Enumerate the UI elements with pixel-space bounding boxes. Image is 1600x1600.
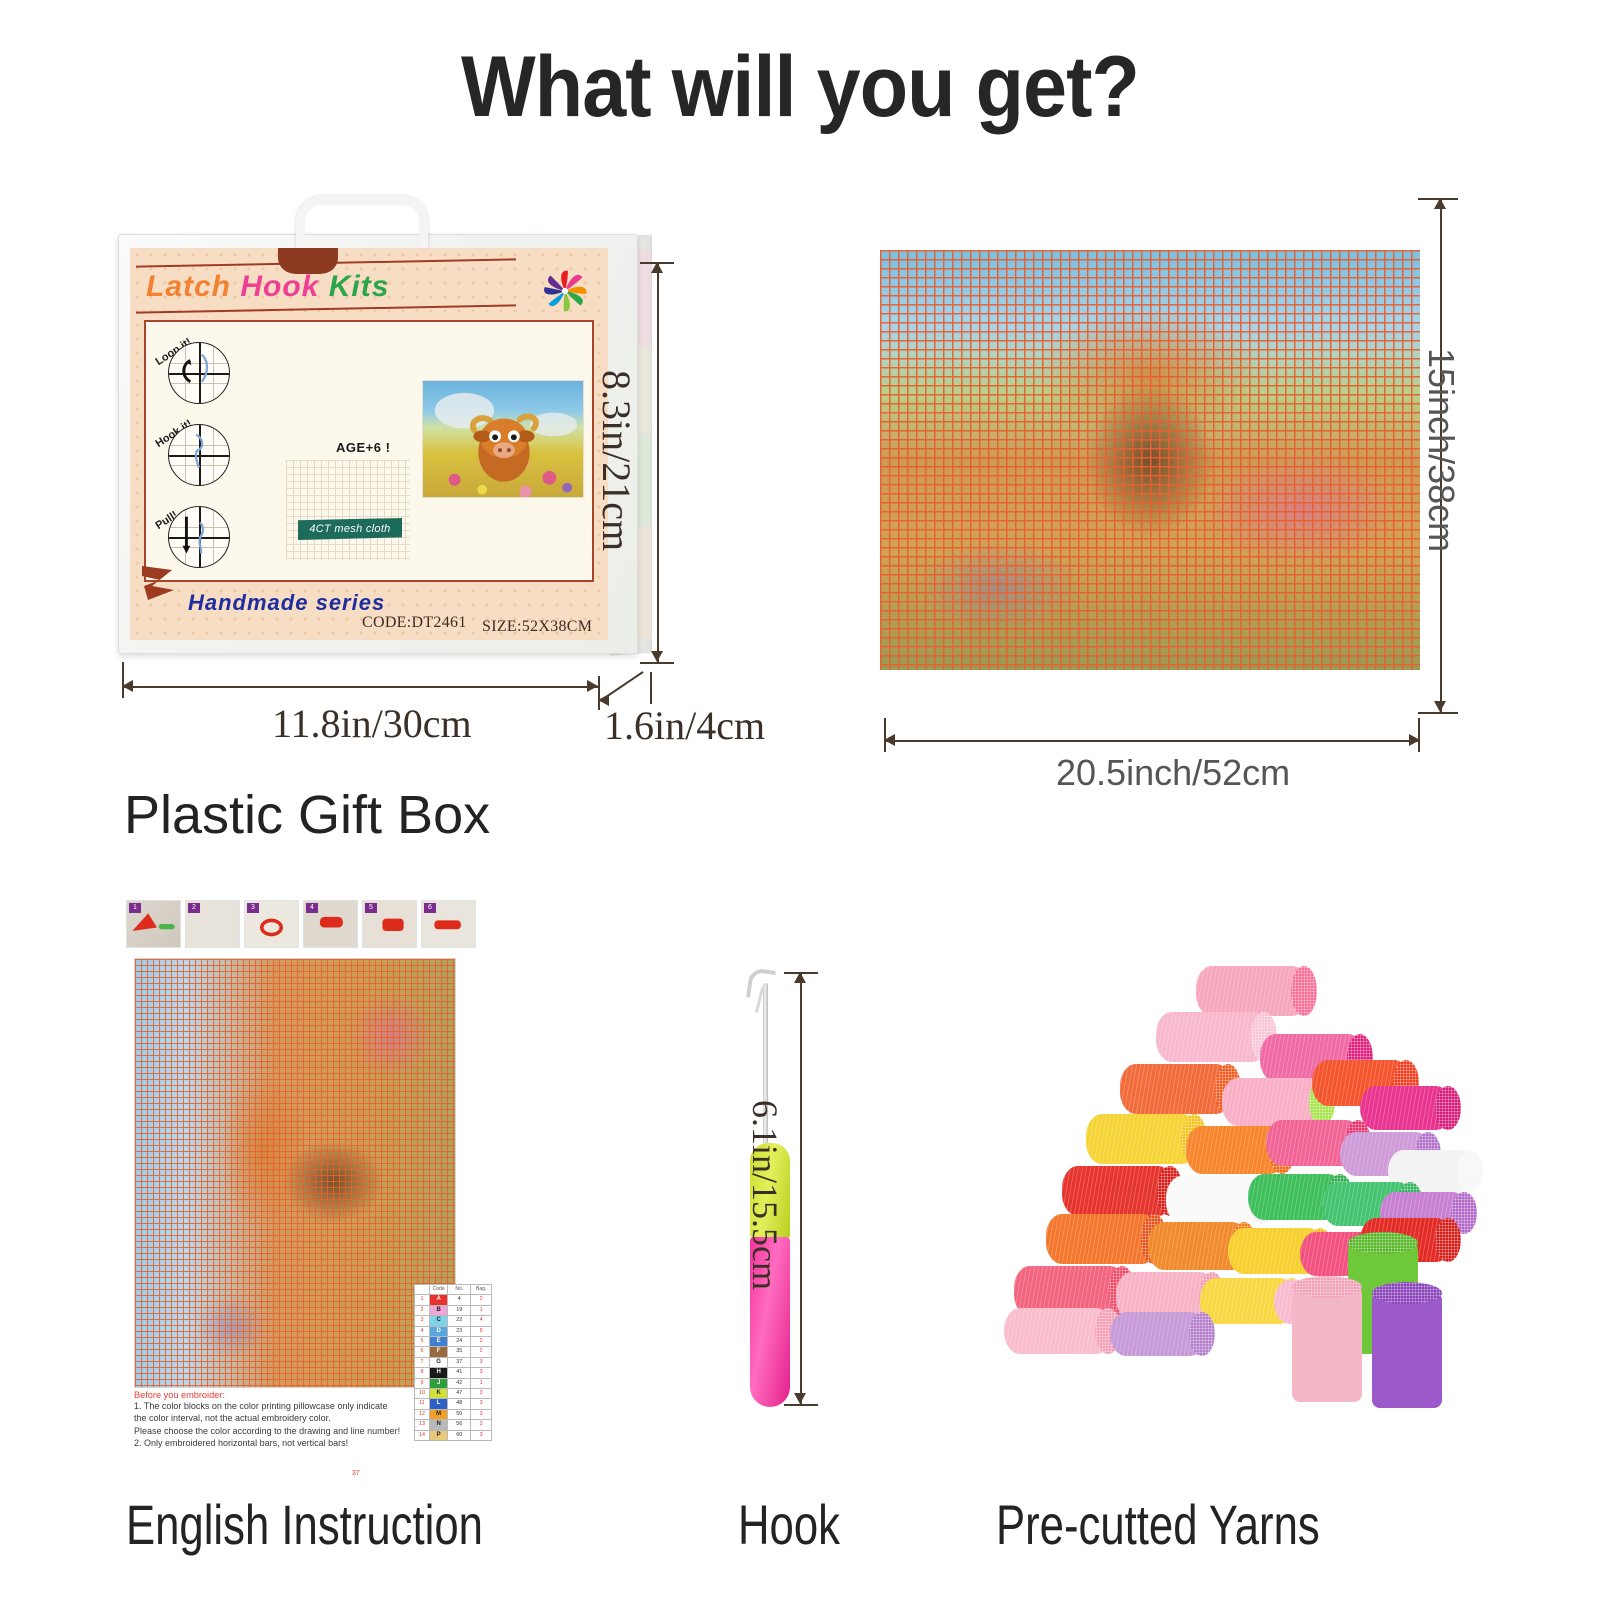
yarn-bundle-standing xyxy=(1372,1292,1442,1408)
thumbnail-number: 2 xyxy=(188,903,200,913)
legend-cell-bag: 2 xyxy=(471,1337,492,1347)
legend-header-code: Code xyxy=(429,1285,447,1295)
before-you-embroider-line: 2. Only embroidered horizontal bars, not… xyxy=(134,1437,434,1449)
legend-cell-color-code: C xyxy=(429,1316,447,1326)
box-carry-handle xyxy=(296,196,428,248)
legend-row: 3C224 xyxy=(415,1316,492,1326)
legend-cell-bag: 3 xyxy=(471,1389,492,1399)
legend-cell-bag: 3 xyxy=(471,1409,492,1419)
legend-cell-index: 4 xyxy=(415,1326,430,1336)
legend-cell-index: 1 xyxy=(415,1295,430,1305)
before-you-embroider-block: Before you embroider: 1. The color block… xyxy=(134,1390,434,1450)
legend-cell-number: 24 xyxy=(448,1337,471,1347)
legend-cell-color-code: H xyxy=(429,1368,447,1378)
brand-title: Latch Hook Kits xyxy=(146,270,389,304)
yarn-bundle xyxy=(1062,1166,1174,1216)
legend-cell-bag: 1 xyxy=(471,1378,492,1388)
legend-cell-number: 50 xyxy=(448,1409,471,1419)
legend-cell-color-code: J xyxy=(429,1378,447,1388)
legend-cell-number: 4 xyxy=(448,1295,471,1305)
legend-cell-color-code: G xyxy=(429,1357,447,1367)
legend-cell-bag: 3 xyxy=(471,1368,492,1378)
legend-row: 5E242 xyxy=(415,1337,492,1347)
page-title: What will you get? xyxy=(64,38,1536,137)
legend-cell-bag: 3 xyxy=(471,1430,492,1440)
instruction-thumbnail: 2 xyxy=(185,900,240,948)
before-you-embroider-line: 1. The color blocks on the color printin… xyxy=(134,1400,434,1412)
legend-cell-number: 35 xyxy=(448,1347,471,1357)
legend-cell-index: 8 xyxy=(415,1368,430,1378)
box-width-label: 11.8in/30cm xyxy=(272,700,472,747)
box-size-text: SIZE:52X38CM xyxy=(482,618,592,636)
canvas-height-label: 15inch/38cm xyxy=(1420,348,1462,552)
instruction-thumbnail-strip: 1 2 3 4 5 6 xyxy=(126,900,476,952)
instruction-sheet-illustration: 1 2 3 4 5 6 Code No. Bag xyxy=(126,900,496,1490)
legend-cell-index: 9 xyxy=(415,1378,430,1388)
brand-word-hook: Hook xyxy=(240,270,319,303)
canvas-width-label: 20.5inch/52cm xyxy=(1056,752,1290,794)
step-diagram-loop xyxy=(168,342,230,404)
step-diagram-pull xyxy=(168,506,230,568)
yarn-bundle xyxy=(1196,966,1308,1016)
legend-header-bag: Bag. xyxy=(471,1285,492,1295)
legend-cell-bag: 1 xyxy=(471,1305,492,1315)
legend-cell-number: 47 xyxy=(448,1389,471,1399)
legend-row: 6F352 xyxy=(415,1347,492,1357)
instruction-thumbnail: 3 xyxy=(244,900,299,948)
box-printed-face: Latch Hook Kits Loop it! xyxy=(130,248,608,640)
hook-length-label: 6.1in/15.5cm xyxy=(744,1100,786,1290)
before-you-embroider-line: Please choose the color according to the… xyxy=(134,1425,434,1437)
mesh-cloth-swatch xyxy=(286,460,410,560)
legend-row: 2B191 xyxy=(415,1305,492,1315)
legend-total-count: 37 xyxy=(352,1470,360,1477)
legend-header-no: No. xyxy=(448,1285,471,1295)
mesh-cloth-ribbon: 4CT mesh cloth xyxy=(298,518,402,540)
legend-row: 8H413 xyxy=(415,1368,492,1378)
instruction-thumbnail: 5 xyxy=(362,900,417,948)
yarn-bundle xyxy=(1222,1078,1326,1126)
legend-cell-bag: 3 xyxy=(471,1357,492,1367)
legend-cell-number: 23 xyxy=(448,1326,471,1336)
before-you-embroider-line: the color interval, not the actual embro… xyxy=(134,1412,434,1424)
legend-cell-bag: 5 xyxy=(471,1326,492,1336)
gift-box-illustration: Latch Hook Kits Loop it! xyxy=(118,196,658,696)
caption-hook: Hook xyxy=(738,1492,840,1557)
legend-cell-bag: 4 xyxy=(471,1316,492,1326)
yarn-bundle xyxy=(1046,1214,1158,1264)
legend-cell-color-code: E xyxy=(429,1337,447,1347)
instruction-thumbnail: 4 xyxy=(303,900,358,948)
step-diagram-hook xyxy=(168,424,230,486)
legend-cell-number: 19 xyxy=(448,1305,471,1315)
legend-cell-index: 2 xyxy=(415,1305,430,1315)
age-recommendation: AGE+6 ! xyxy=(336,440,390,455)
instruction-thumbnail: 1 xyxy=(126,900,181,948)
legend-cell-number: 42 xyxy=(448,1378,471,1388)
legend-cell-index: 6 xyxy=(415,1347,430,1357)
legend-cell-bag: 2 xyxy=(471,1420,492,1430)
legend-cell-number: 22 xyxy=(448,1316,471,1326)
legend-row: 4D235 xyxy=(415,1326,492,1336)
mesh-canvas-illustration xyxy=(880,250,1420,670)
legend-cell-color-code: F xyxy=(429,1347,447,1357)
box-height-label: 8.3in/21cm xyxy=(593,370,640,551)
legend-cell-bag: 2 xyxy=(471,1347,492,1357)
caption-english-instruction: English Instruction xyxy=(126,1492,483,1557)
legend-cell-index: 3 xyxy=(415,1316,430,1326)
legend-cell-index: 7 xyxy=(415,1357,430,1367)
brand-word-latch: Latch xyxy=(146,270,231,303)
legend-row: 1A42 xyxy=(415,1295,492,1305)
before-you-embroider-title: Before you embroider: xyxy=(134,1390,434,1400)
z-ribbon-mark-icon xyxy=(138,560,184,606)
box-code-text: CODE:DT2461 xyxy=(362,614,467,632)
pinwheel-logo-icon xyxy=(536,262,594,320)
yarn-bundle xyxy=(1360,1086,1452,1130)
caption-plastic-gift-box: Plastic Gift Box xyxy=(124,784,490,846)
legend-cell-color-code: D xyxy=(429,1326,447,1336)
legend-cell-color-code: A xyxy=(429,1295,447,1305)
yarn-bundles-illustration xyxy=(960,960,1480,1440)
legend-row: 9J421 xyxy=(415,1378,492,1388)
legend-cell-color-code: B xyxy=(429,1305,447,1315)
yarn-bundle-standing xyxy=(1292,1286,1362,1402)
legend-cell-number: 48 xyxy=(448,1399,471,1409)
box-inner-panel: Loop it! Hook it! xyxy=(144,320,594,582)
legend-header-index xyxy=(415,1285,430,1295)
printed-mesh-canvas xyxy=(880,250,1420,670)
hook-tool-illustration xyxy=(700,965,880,1435)
yarn-bundle xyxy=(1086,1114,1198,1164)
legend-header-row: Code No. Bag. xyxy=(415,1285,492,1295)
product-preview-photo xyxy=(422,380,584,498)
brand-word-kits: Kits xyxy=(329,270,390,303)
instruction-thumbnail: 6 xyxy=(421,900,476,948)
instruction-pattern-chart xyxy=(134,958,456,1388)
handmade-series-text: Handmade series xyxy=(188,590,385,616)
legend-cell-bag: 3 xyxy=(471,1399,492,1409)
yarn-bundle xyxy=(1156,1012,1268,1062)
legend-cell-number: 41 xyxy=(448,1368,471,1378)
legend-cell-number: 60 xyxy=(448,1430,471,1440)
box-depth-label: 1.6in/4cm xyxy=(604,702,765,749)
yarn-bundle xyxy=(1110,1312,1206,1356)
legend-cell-number: 56 xyxy=(448,1420,471,1430)
legend-cell-index: 5 xyxy=(415,1337,430,1347)
legend-row: 7G373 xyxy=(415,1357,492,1367)
legend-cell-bag: 2 xyxy=(471,1295,492,1305)
yarn-bundle xyxy=(1004,1308,1112,1354)
legend-cell-number: 37 xyxy=(448,1357,471,1367)
caption-pre-cutted-yarns: Pre-cutted Yarns xyxy=(996,1492,1320,1557)
yarn-bundle xyxy=(1120,1064,1232,1114)
